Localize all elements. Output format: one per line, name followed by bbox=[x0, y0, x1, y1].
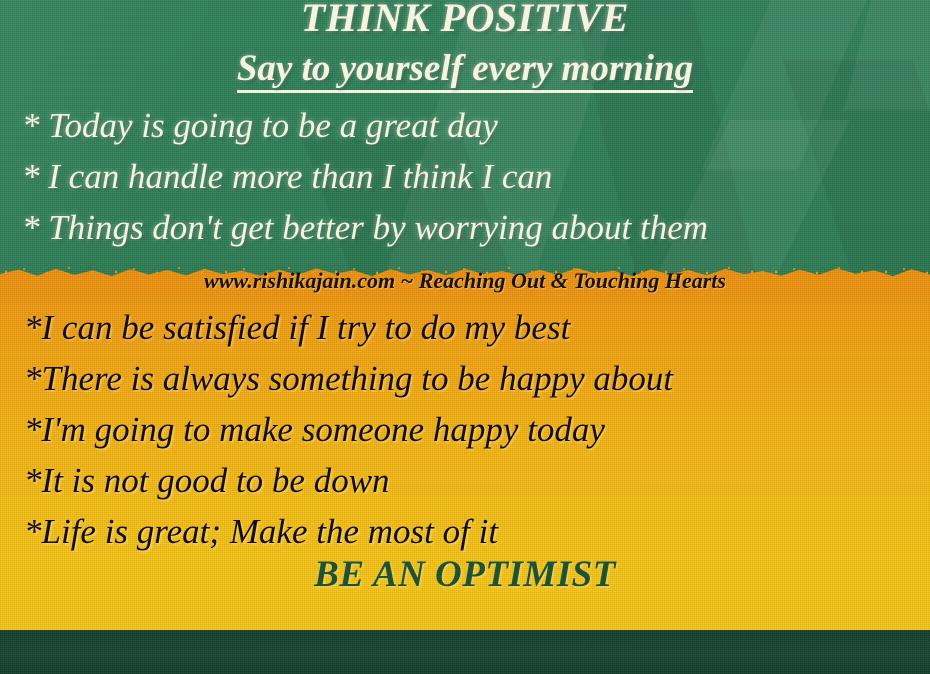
list-item: * Today is going to be a great day bbox=[22, 100, 912, 151]
subtitle-underlined-text: Say to yourself every morning bbox=[237, 48, 693, 93]
list-item: *Life is great; Make the most of it bbox=[24, 506, 914, 557]
list-item: *There is always something to be happy a… bbox=[24, 353, 914, 404]
orange-affirmation-list: *I can be satisfied if I try to do my be… bbox=[24, 302, 914, 557]
list-item: *It is not good to be down bbox=[24, 455, 914, 506]
page-subtitle: Say to yourself every morning bbox=[0, 47, 930, 90]
list-item: *I'm going to make someone happy today bbox=[24, 404, 914, 455]
motivational-poster: THINK POSITIVE Say to yourself every mor… bbox=[0, 0, 930, 674]
list-item: *I can be satisfied if I try to do my be… bbox=[24, 302, 914, 353]
list-item: * Things don't get better by worrying ab… bbox=[22, 202, 912, 253]
canvas-texture-overlay bbox=[0, 630, 930, 674]
bottom-green-strip bbox=[0, 630, 930, 674]
closing-statement: BE AN OPTIMIST bbox=[0, 553, 930, 596]
website-watermark: www.rishikajain.com ~ Reaching Out & Tou… bbox=[0, 268, 930, 294]
page-title: THINK POSITIVE bbox=[0, 0, 930, 41]
list-item: * I can handle more than I think I can bbox=[22, 151, 912, 202]
green-affirmation-list: * Today is going to be a great day * I c… bbox=[22, 100, 912, 253]
